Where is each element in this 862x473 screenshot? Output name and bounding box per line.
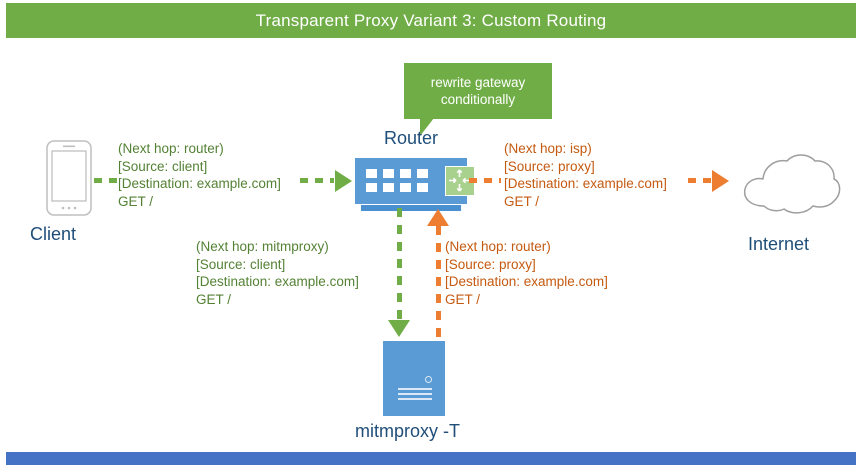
bottom-bar — [6, 452, 856, 465]
mitmproxy-label: mitmproxy -T — [355, 421, 460, 442]
flow-label-line: [Source: proxy] — [504, 158, 667, 176]
server-indicator-icon — [425, 376, 432, 383]
router-port — [400, 183, 411, 192]
cloud-icon — [738, 148, 842, 222]
flow-line-client-to-router-b — [300, 178, 334, 183]
router-label: Router — [384, 128, 438, 149]
internet-label: Internet — [748, 234, 809, 255]
flow-line-router-to-internet-b — [688, 178, 712, 183]
callout-line-1: rewrite gateway — [431, 74, 526, 91]
server-icon — [383, 341, 445, 416]
flow-label-line: GET / — [504, 193, 667, 211]
flow-label-line: GET / — [196, 291, 359, 309]
flow-label-client-to-router: (Next hop: router) [Source: client] [Des… — [118, 140, 281, 210]
router-port — [417, 169, 428, 178]
server-line — [398, 398, 432, 400]
router-port — [383, 169, 394, 178]
flow-arrowhead-mitmproxy-to-router — [427, 209, 449, 226]
callout-box: rewrite gateway conditionally — [404, 63, 552, 119]
router-port — [383, 183, 394, 192]
flow-label-line: GET / — [118, 193, 281, 211]
flow-line-client-to-router-a — [94, 178, 118, 183]
router-port — [400, 169, 411, 178]
flow-label-line: (Next hop: mitmproxy) — [196, 238, 359, 256]
router-icon — [355, 158, 467, 204]
diagram-canvas: Transparent Proxy Variant 3: Custom Rout… — [0, 0, 862, 473]
flow-label-line: [Source: client] — [118, 158, 281, 176]
page-title: Transparent Proxy Variant 3: Custom Rout… — [256, 11, 607, 31]
flow-label-line: [Source: proxy] — [445, 256, 608, 274]
flow-label-line: (Next hop: isp) — [504, 140, 667, 158]
flow-label-mitmproxy-to-router: (Next hop: router) [Source: proxy] [Dest… — [445, 238, 608, 308]
client-label: Client — [30, 224, 76, 245]
router-port — [366, 183, 377, 192]
flow-line-router-to-mitmproxy — [397, 208, 402, 320]
flow-label-router-to-internet: (Next hop: isp) [Source: proxy] [Destina… — [504, 140, 667, 210]
flow-line-mitmproxy-to-router — [436, 226, 441, 342]
flow-label-line: [Destination: example.com] — [196, 273, 359, 291]
callout-line-2: conditionally — [431, 91, 526, 108]
flow-label-line: [Destination: example.com] — [445, 273, 608, 291]
flow-label-line: [Source: client] — [196, 256, 359, 274]
flow-label-line: [Destination: example.com] — [504, 175, 667, 193]
flow-arrowhead-client-to-router — [335, 170, 352, 192]
smartphone-icon — [46, 140, 92, 216]
flow-label-line: GET / — [445, 291, 608, 309]
flow-label-line: (Next hop: router) — [118, 140, 281, 158]
router-port — [366, 169, 377, 178]
flow-label-line: (Next hop: router) — [445, 238, 608, 256]
router-port — [417, 183, 428, 192]
title-bar: Transparent Proxy Variant 3: Custom Rout… — [6, 3, 856, 38]
server-line — [398, 388, 432, 390]
flow-line-router-to-internet-a — [469, 178, 501, 183]
flow-label-router-to-mitmproxy: (Next hop: mitmproxy) [Source: client] [… — [196, 238, 359, 308]
flow-arrowhead-router-to-mitmproxy — [388, 320, 410, 337]
flow-arrowhead-router-to-internet — [712, 170, 729, 192]
flow-label-line: [Destination: example.com] — [118, 175, 281, 193]
server-line — [398, 393, 432, 395]
